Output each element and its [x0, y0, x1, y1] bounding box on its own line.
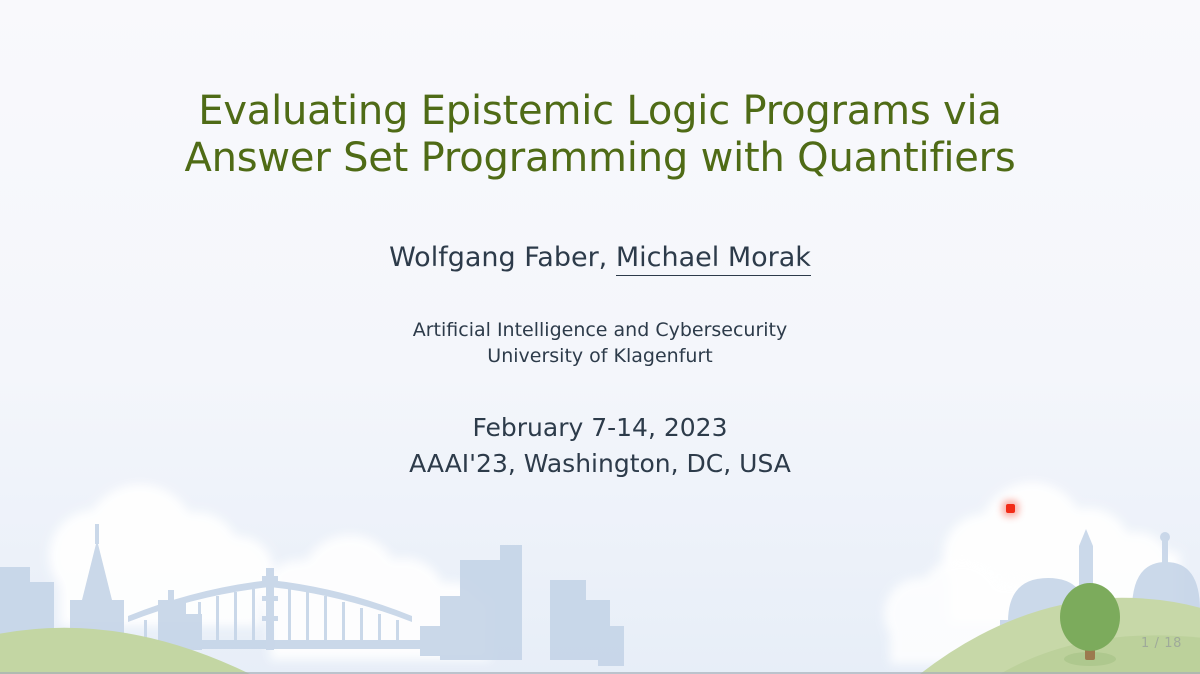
- event-venue: AAAI'23, Washington, DC, USA: [0, 446, 1200, 482]
- cloud-group-upper-right: [884, 558, 1044, 664]
- affiliation-university: University of Klagenfurt: [0, 344, 1200, 370]
- slide-content: Evaluating Epistemic Logic Programs via …: [0, 0, 1200, 481]
- san-francisco-skyline: [0, 524, 624, 666]
- author-presenting-speaker: Michael Morak: [616, 242, 811, 276]
- event-date: February 7-14, 2023: [0, 410, 1200, 446]
- page-counter: 1 / 18: [1141, 636, 1182, 651]
- author-coauthor: Wolfgang Faber,: [389, 242, 616, 273]
- tree: [1060, 583, 1120, 666]
- title-line-2: Answer Set Programming with Quantifiers: [0, 135, 1200, 182]
- affiliation-block: Artificial Intelligence and Cybersecurit…: [0, 275, 1200, 369]
- cloud-group-left: [49, 484, 274, 626]
- cloud-group-right: [943, 482, 1180, 622]
- presentation-slide: Evaluating Epistemic Logic Programs via …: [0, 0, 1200, 674]
- author-list: Wolfgang Faber, Michael Morak: [0, 182, 1200, 275]
- event-block: February 7-14, 2023 AAAI'23, Washington,…: [0, 369, 1200, 481]
- affiliation-department: Artificial Intelligence and Cybersecurit…: [0, 318, 1200, 344]
- hill-left: [0, 628, 250, 674]
- laser-pointer-dot: [1006, 504, 1015, 513]
- cloud-group-center: [260, 535, 490, 660]
- title-line-1: Evaluating Epistemic Logic Programs via: [0, 88, 1200, 135]
- slide-title: Evaluating Epistemic Logic Programs via …: [0, 0, 1200, 182]
